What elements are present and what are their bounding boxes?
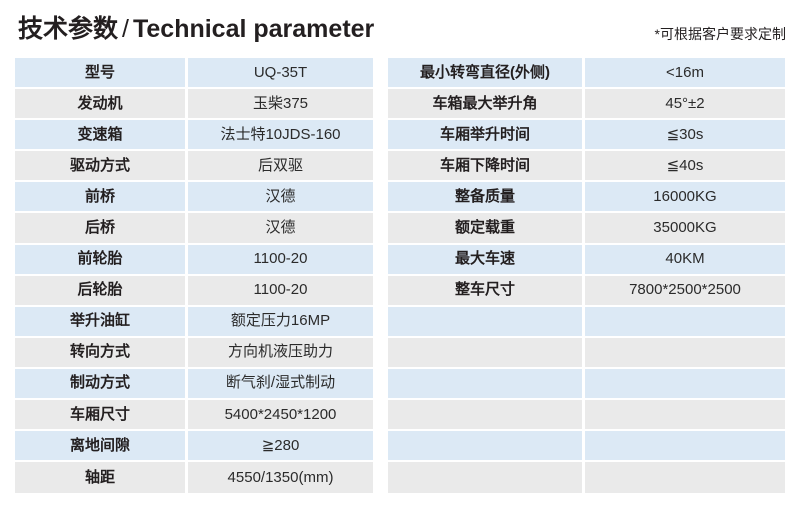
spec-value-cell xyxy=(585,307,785,338)
spec-label-cell: 后桥 xyxy=(15,213,188,244)
spec-value-cell: 额定压力16MP xyxy=(188,307,373,338)
spec-label-cell xyxy=(388,431,585,462)
spec-label-cell: 举升油缸 xyxy=(15,307,188,338)
spec-value-cell xyxy=(585,462,785,493)
spec-value-cell: 7800*2500*2500 xyxy=(585,276,785,307)
spec-table-left-body: 型号UQ-35T发动机玉柴375变速箱法士特10JDS-160驱动方式后双驱前桥… xyxy=(15,58,373,493)
spec-value-cell: 法士特10JDS-160 xyxy=(188,120,373,151)
spec-label-cell xyxy=(388,369,585,400)
spec-label-cell: 最小转弯直径(外侧) xyxy=(388,58,585,89)
page-title-cn: 技术参数 xyxy=(18,15,118,43)
spec-label-cell: 额定载重 xyxy=(388,213,585,244)
spec-label-cell: 车箱最大举升角 xyxy=(388,89,585,120)
spec-value-cell xyxy=(585,400,785,431)
table-row: 车厢下降时间≦40s xyxy=(388,151,785,182)
table-row: 举升油缸额定压力16MP xyxy=(15,307,373,338)
table-row: 整车尺寸7800*2500*2500 xyxy=(388,276,785,307)
spec-value-cell: 5400*2450*1200 xyxy=(188,400,373,431)
table-row: 整备质量16000KG xyxy=(388,182,785,213)
table-row xyxy=(388,307,785,338)
spec-value-cell: 35000KG xyxy=(585,213,785,244)
table-row: 额定载重35000KG xyxy=(388,213,785,244)
spec-label-cell: 转向方式 xyxy=(15,338,188,369)
table-row: 型号UQ-35T xyxy=(15,58,373,89)
customization-note: *可根据客户要求定制 xyxy=(655,25,786,43)
spec-value-cell: 后双驱 xyxy=(188,151,373,182)
page-title-separator: / xyxy=(122,15,129,43)
spec-label-cell: 型号 xyxy=(15,58,188,89)
spec-value-cell: 玉柴375 xyxy=(188,89,373,120)
table-row: 后桥汉德 xyxy=(15,213,373,244)
page-header: 技术参数/Technical parameter *可根据客户要求定制 xyxy=(0,0,800,58)
spec-label-cell: 轴距 xyxy=(15,462,188,493)
spec-table-left: 型号UQ-35T发动机玉柴375变速箱法士特10JDS-160驱动方式后双驱前桥… xyxy=(15,58,373,493)
spec-label-cell: 整备质量 xyxy=(388,182,585,213)
table-row xyxy=(388,462,785,493)
table-row: 转向方式方向机液压助力 xyxy=(15,338,373,369)
spec-label-cell: 离地间隙 xyxy=(15,431,188,462)
spec-value-cell: 45°±2 xyxy=(585,89,785,120)
table-row: 制动方式断气刹/湿式制动 xyxy=(15,369,373,400)
spec-value-cell: ≦40s xyxy=(585,151,785,182)
spec-value-cell: ≧280 xyxy=(188,431,373,462)
page-title: 技术参数/Technical parameter xyxy=(18,14,374,44)
spec-label-cell: 车厢举升时间 xyxy=(388,120,585,151)
table-row: 车厢尺寸5400*2450*1200 xyxy=(15,400,373,431)
spec-table-right: 最小转弯直径(外侧)<16m车箱最大举升角45°±2车厢举升时间≦30s车厢下降… xyxy=(388,58,785,493)
table-row xyxy=(388,431,785,462)
spec-value-cell xyxy=(585,431,785,462)
table-row: 变速箱法士特10JDS-160 xyxy=(15,120,373,151)
spec-label-cell: 发动机 xyxy=(15,89,188,120)
spec-label-cell: 前桥 xyxy=(15,182,188,213)
table-row xyxy=(388,338,785,369)
table-row xyxy=(388,369,785,400)
table-row: 车厢举升时间≦30s xyxy=(388,120,785,151)
spec-value-cell: ≦30s xyxy=(585,120,785,151)
spec-value-cell: UQ-35T xyxy=(188,58,373,89)
table-row: 后轮胎1100-20 xyxy=(15,276,373,307)
spec-value-cell xyxy=(585,369,785,400)
spec-label-cell xyxy=(388,400,585,431)
page-title-en: Technical parameter xyxy=(133,15,374,43)
table-row: 轴距4550/1350(mm) xyxy=(15,462,373,493)
table-row: 最大车速40KM xyxy=(388,245,785,276)
spec-value-cell: 方向机液压助力 xyxy=(188,338,373,369)
spec-value-cell: 40KM xyxy=(585,245,785,276)
table-row: 发动机玉柴375 xyxy=(15,89,373,120)
table-row: 前轮胎1100-20 xyxy=(15,245,373,276)
spec-label-cell: 变速箱 xyxy=(15,120,188,151)
spec-label-cell xyxy=(388,338,585,369)
spec-value-cell: 4550/1350(mm) xyxy=(188,462,373,493)
spec-value-cell: 汉德 xyxy=(188,182,373,213)
spec-value-cell: 16000KG xyxy=(585,182,785,213)
spec-label-cell: 车厢尺寸 xyxy=(15,400,188,431)
spec-label-cell: 制动方式 xyxy=(15,369,188,400)
spec-label-cell: 整车尺寸 xyxy=(388,276,585,307)
spec-value-cell: 1100-20 xyxy=(188,245,373,276)
table-row: 驱动方式后双驱 xyxy=(15,151,373,182)
spec-value-cell: 汉德 xyxy=(188,213,373,244)
spec-value-cell xyxy=(585,338,785,369)
spec-value-cell: 1100-20 xyxy=(188,276,373,307)
spec-label-cell: 最大车速 xyxy=(388,245,585,276)
spec-label-cell: 驱动方式 xyxy=(15,151,188,182)
table-row: 车箱最大举升角45°±2 xyxy=(388,89,785,120)
table-row: 前桥汉德 xyxy=(15,182,373,213)
spec-value-cell: 断气刹/湿式制动 xyxy=(188,369,373,400)
spec-label-cell: 车厢下降时间 xyxy=(388,151,585,182)
spec-value-cell: <16m xyxy=(585,58,785,89)
specification-tables: 型号UQ-35T发动机玉柴375变速箱法士特10JDS-160驱动方式后双驱前桥… xyxy=(0,58,800,494)
table-row xyxy=(388,400,785,431)
table-row: 最小转弯直径(外侧)<16m xyxy=(388,58,785,89)
table-row: 离地间隙≧280 xyxy=(15,431,373,462)
spec-label-cell xyxy=(388,462,585,493)
spec-table-right-body: 最小转弯直径(外侧)<16m车箱最大举升角45°±2车厢举升时间≦30s车厢下降… xyxy=(388,58,785,493)
spec-label-cell: 前轮胎 xyxy=(15,245,188,276)
spec-label-cell xyxy=(388,307,585,338)
spec-label-cell: 后轮胎 xyxy=(15,276,188,307)
